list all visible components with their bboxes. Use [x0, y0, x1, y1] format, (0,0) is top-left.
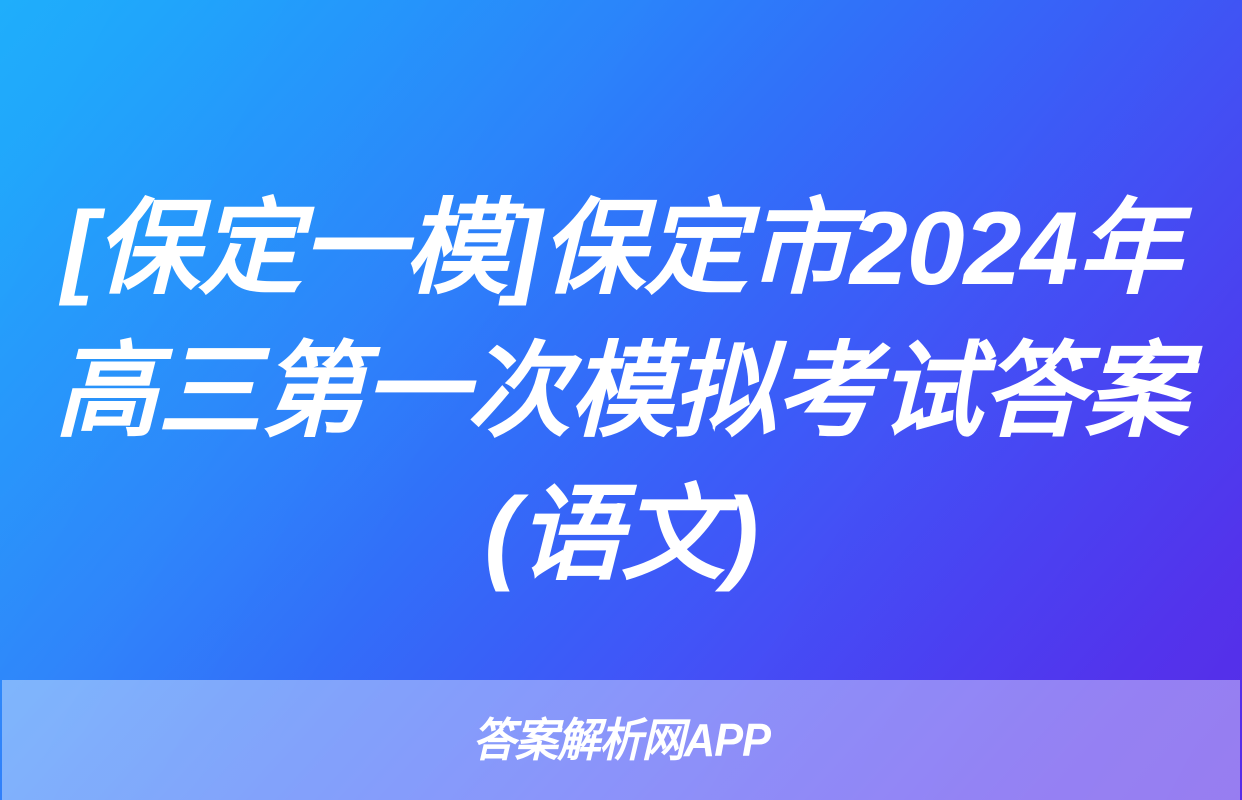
page-title: [保定一模]保定市2024年高三第一次模拟考试答案(语文) [44, 178, 1198, 607]
title-block: [保定一模]保定市2024年高三第一次模拟考试答案(语文) [0, 178, 1242, 607]
exam-cover-card: [保定一模]保定市2024年高三第一次模拟考试答案(语文) 答案解析网APP [0, 0, 1242, 800]
watermark-band: 答案解析网APP [2, 680, 1240, 800]
watermark-brand-label: 答案解析网APP [472, 717, 770, 763]
